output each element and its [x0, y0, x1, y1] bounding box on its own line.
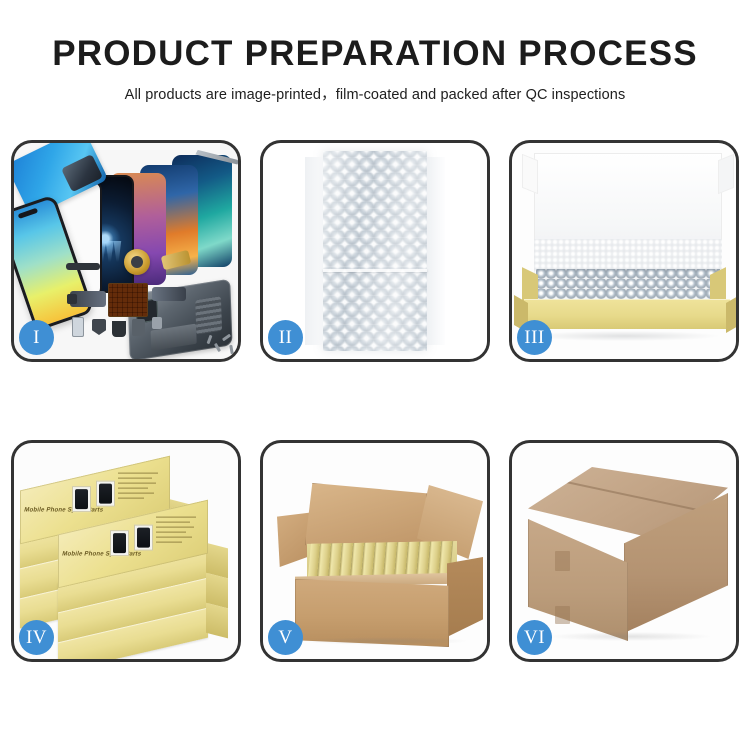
page-subtitle: All products are image-printed，film-coat…	[0, 83, 750, 104]
flex-cable-left	[70, 291, 106, 307]
bubble-wrapped-contents	[536, 269, 720, 303]
bubble-wrap-sheet	[323, 151, 427, 351]
step-badge-4: IV	[19, 620, 54, 655]
carton-tab-lower	[555, 606, 570, 624]
dark-bar-connector	[66, 263, 100, 270]
product-preparation-process-infographic: PRODUCT PREPARATION PROCESS All products…	[0, 0, 750, 750]
process-step-panel-1: I	[11, 140, 241, 362]
step-badge-3: III	[517, 320, 552, 355]
header: PRODUCT PREPARATION PROCESS All products…	[0, 0, 750, 104]
process-step-panel-3: III	[509, 140, 739, 362]
small-part-4	[132, 319, 145, 336]
box-spec-lines	[118, 471, 162, 501]
spare-parts-cluster	[66, 247, 202, 353]
open-carton	[277, 461, 479, 649]
box-front-panel	[524, 299, 730, 329]
carton-side-panel	[447, 557, 483, 637]
drop-shadow	[550, 632, 710, 641]
flex-cable-right	[152, 287, 186, 301]
box-stack: Mobile Phone Spare Parts Mobile Phone Sp…	[18, 459, 238, 655]
page-title: PRODUCT PREPARATION PROCESS	[0, 34, 750, 74]
process-step-panel-2: II	[260, 140, 490, 362]
box-label: Mobile Phone Spare Parts	[23, 506, 104, 513]
plastic-highlight	[323, 151, 427, 351]
process-step-panel-6: VI	[509, 440, 739, 662]
drop-shadow	[530, 331, 718, 341]
drop-shadow	[301, 637, 469, 645]
step-badge-2: II	[268, 320, 303, 355]
box-label: Mobile Phone Spare Parts	[61, 550, 142, 557]
gold-coil	[124, 249, 150, 275]
box-window-1	[110, 530, 129, 556]
small-part-3	[112, 321, 126, 337]
box-window-1	[72, 486, 91, 512]
process-step-panel-4: Mobile Phone Spare Parts Mobile Phone Sp…	[11, 440, 241, 662]
step-badge-6: VI	[517, 620, 552, 655]
small-part-5	[152, 317, 162, 329]
foam-sheet	[534, 239, 722, 273]
step-badge-1: I	[19, 320, 54, 355]
sealed-carton	[528, 467, 728, 643]
small-part-1	[72, 317, 84, 337]
gold-flex-cable	[161, 250, 192, 270]
copper-grid-chip	[108, 283, 148, 317]
step-badge-5: V	[268, 620, 303, 655]
carton-tab-upper	[555, 551, 570, 571]
box-spec-lines	[156, 515, 200, 545]
screws	[206, 331, 236, 357]
small-part-2	[92, 319, 106, 335]
box-window-2	[134, 525, 153, 551]
process-step-panel-5: V	[260, 440, 490, 662]
box-window-2	[96, 481, 115, 507]
process-step-grid: I II	[11, 140, 739, 685]
